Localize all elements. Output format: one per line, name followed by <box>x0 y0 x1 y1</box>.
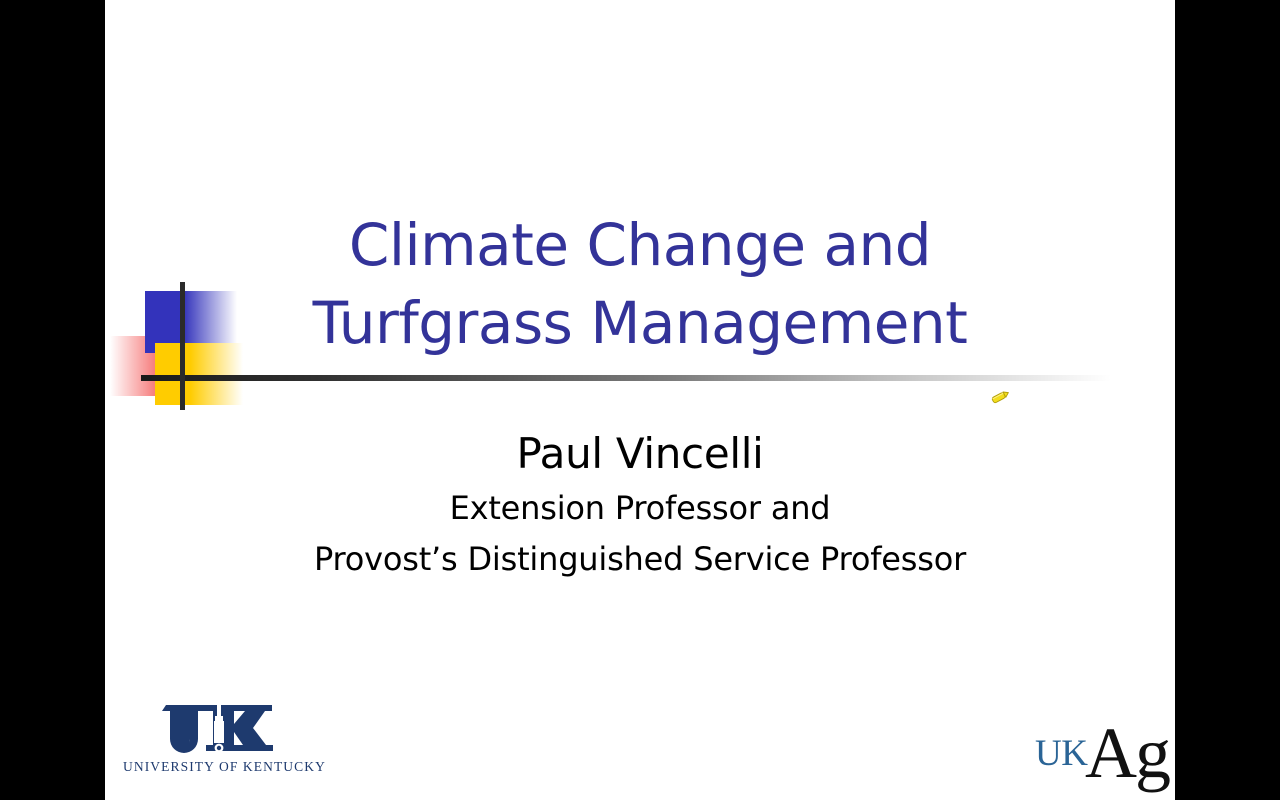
slide-subtitle: Paul Vincelli Extension Professor and Pr… <box>105 425 1175 585</box>
presenter-name: Paul Vincelli <box>105 425 1175 483</box>
slide-title-line-2: Turfgrass Management <box>105 284 1175 362</box>
ukag-logo: UK Ag <box>1023 714 1173 794</box>
slide-title: Climate Change and Turfgrass Management <box>105 206 1175 362</box>
ukag-uk-text: UK <box>1035 732 1087 775</box>
decor-horizontal-rule <box>141 375 1111 381</box>
ukag-ag-text: Ag <box>1085 712 1169 795</box>
presenter-role-line-2: Provost’s Distinguished Service Professo… <box>105 534 1175 585</box>
pencil-icon[interactable] <box>989 388 1011 406</box>
uk-logo: UNIVERSITY OF KENTUCKY <box>123 700 323 775</box>
presentation-slide: Climate Change and Turfgrass Management … <box>105 0 1175 800</box>
uk-wordmark: UNIVERSITY OF KENTUCKY <box>123 759 323 775</box>
presenter-role-line-1: Extension Professor and <box>105 483 1175 534</box>
uk-monogram-icon <box>123 700 323 756</box>
slide-viewer: Climate Change and Turfgrass Management … <box>0 0 1280 800</box>
slide-title-line-1: Climate Change and <box>105 206 1175 284</box>
